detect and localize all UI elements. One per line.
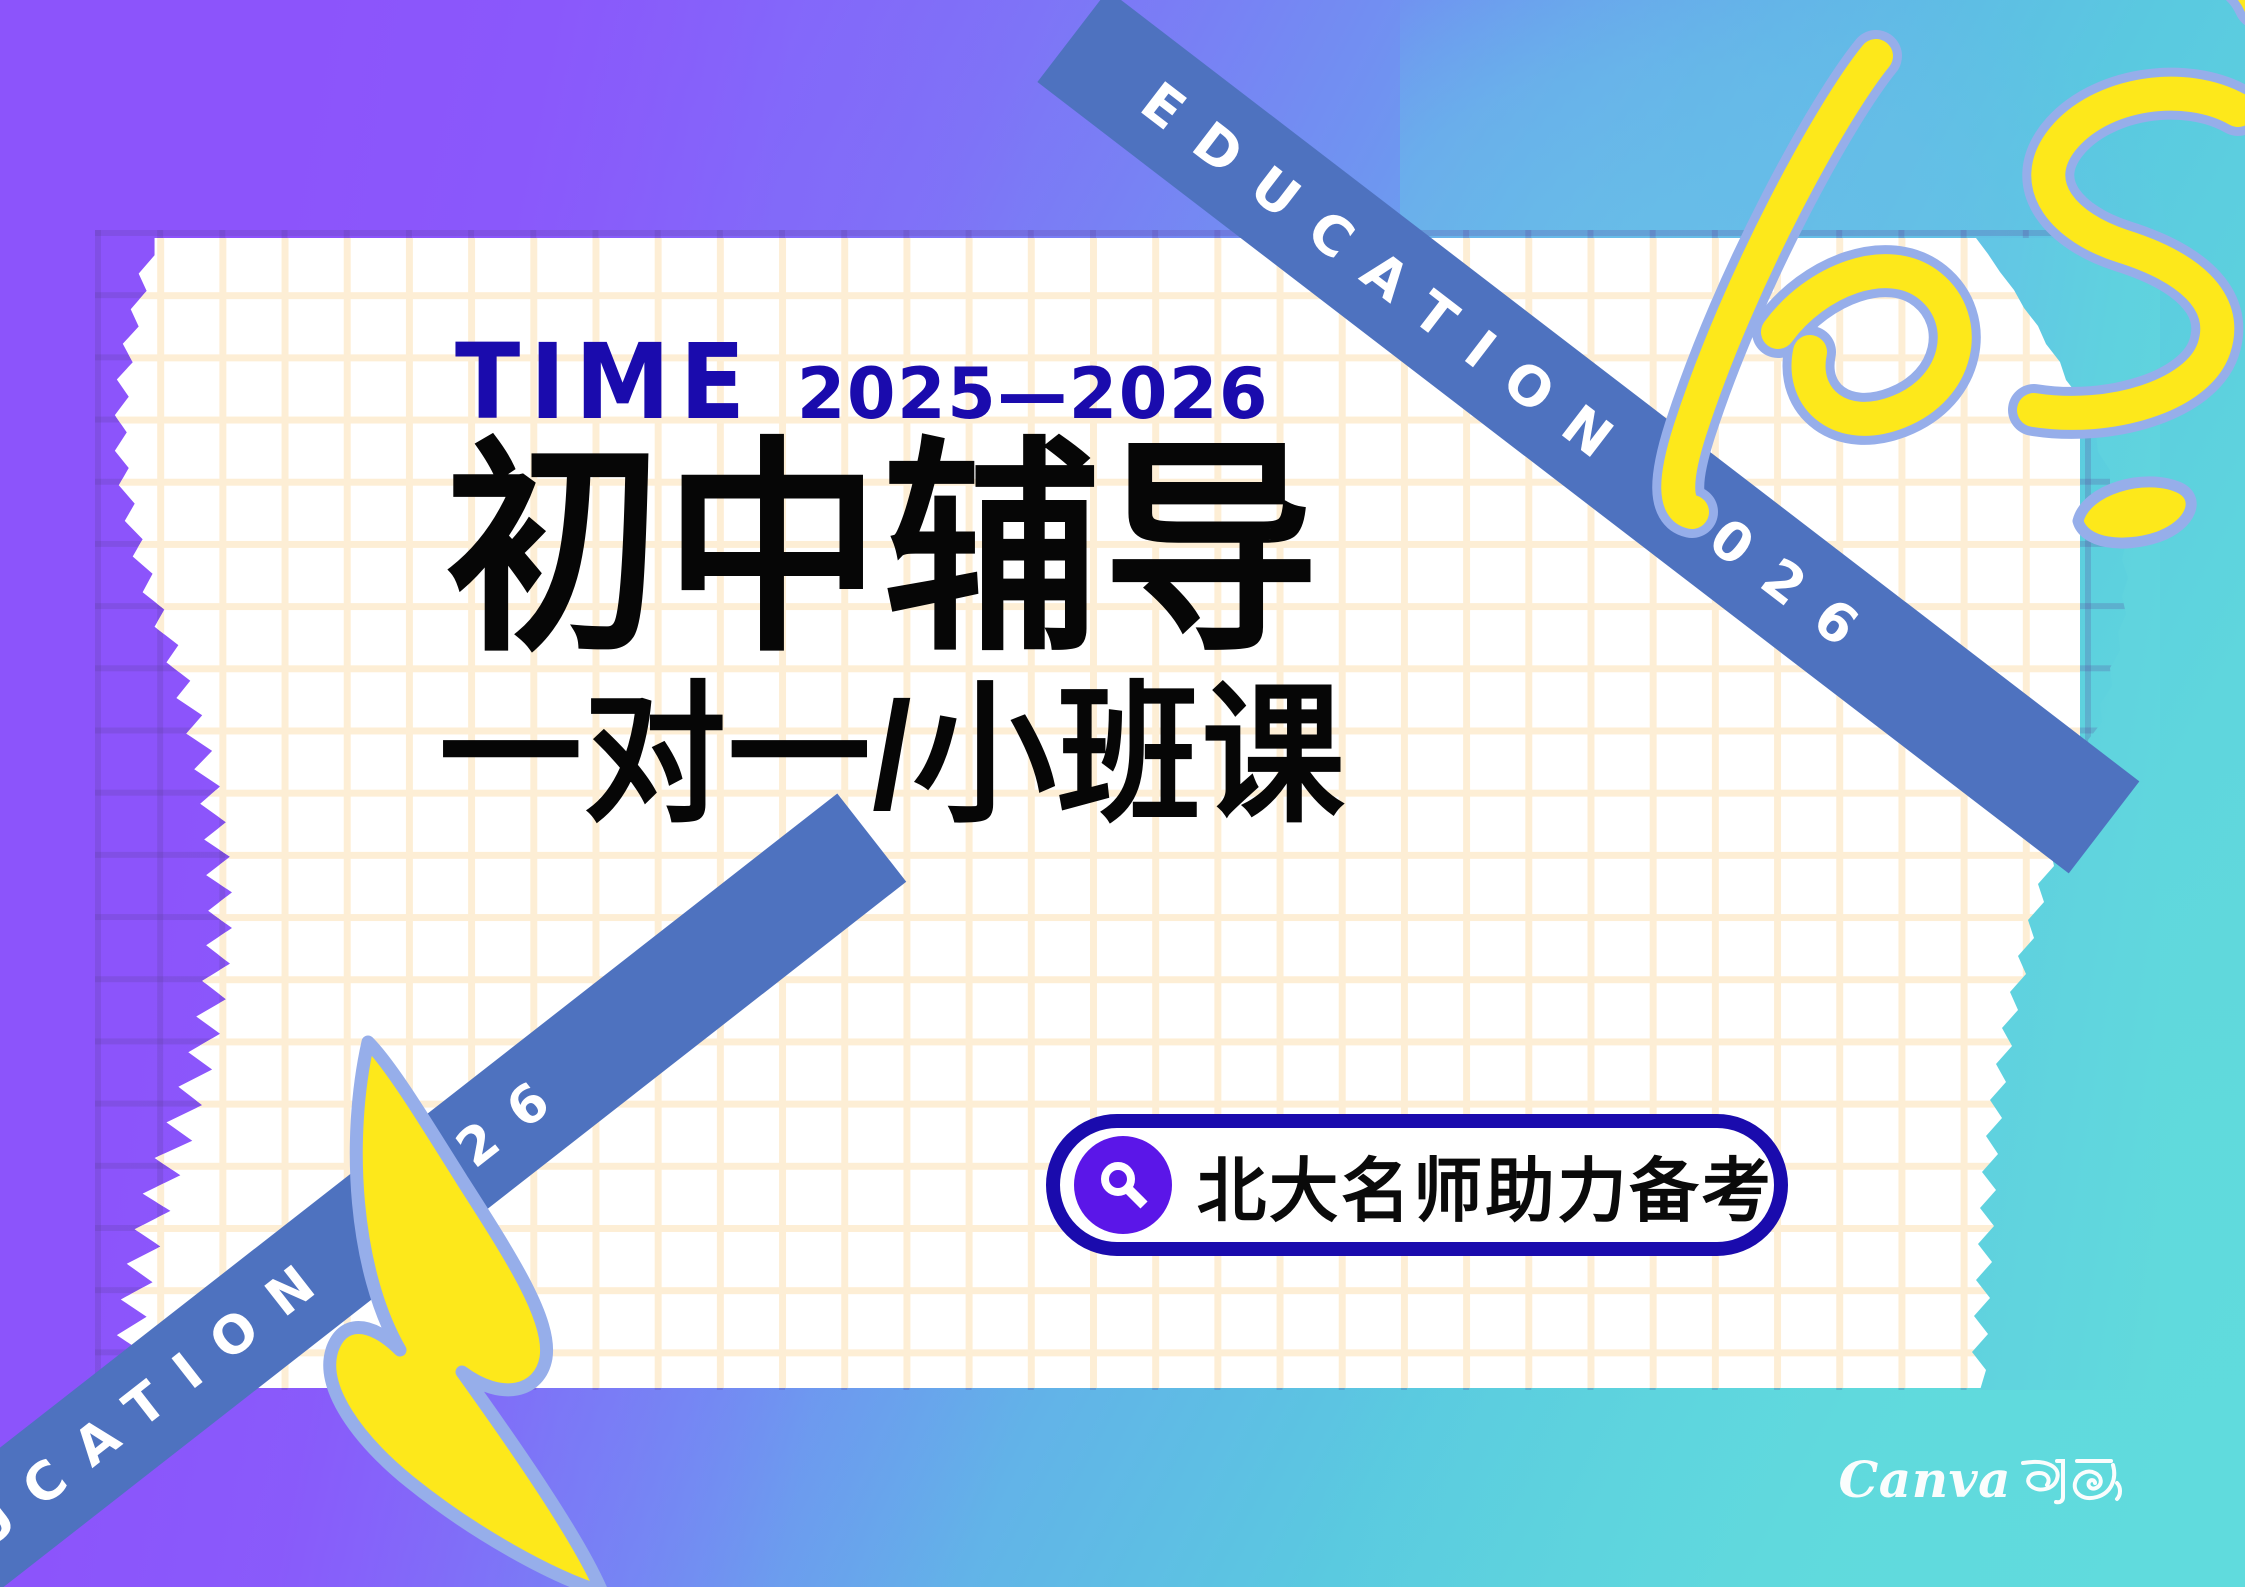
cta-button-label: 北大名师助力备考 — [1197, 1135, 1774, 1236]
eyebrow-row: TIME 2025—2026 — [455, 330, 1875, 434]
page-title: 初中辅导 — [445, 444, 1804, 658]
page-subtitle: 一对一/小班课 — [439, 680, 1789, 832]
eyebrow-years: 2025—2026 — [797, 359, 1269, 429]
eyebrow-word-time: TIME — [455, 330, 755, 434]
watermark-brand-text: Canva — [1839, 1450, 2012, 1509]
poster-text-block: TIME 2025—2026 初中辅导 一对一/小班课 — [455, 330, 1875, 832]
canva-watermark: Canva — [1839, 1450, 2126, 1509]
watermark-cjk-glyphs — [2017, 1453, 2125, 1507]
search-icon — [1074, 1136, 1172, 1234]
poster-canvas: EDUCATION 2026 EDUCATION 2026 TIME 2025—… — [0, 0, 2245, 1587]
cta-button[interactable]: 北大名师助力备考 — [1046, 1114, 1788, 1256]
